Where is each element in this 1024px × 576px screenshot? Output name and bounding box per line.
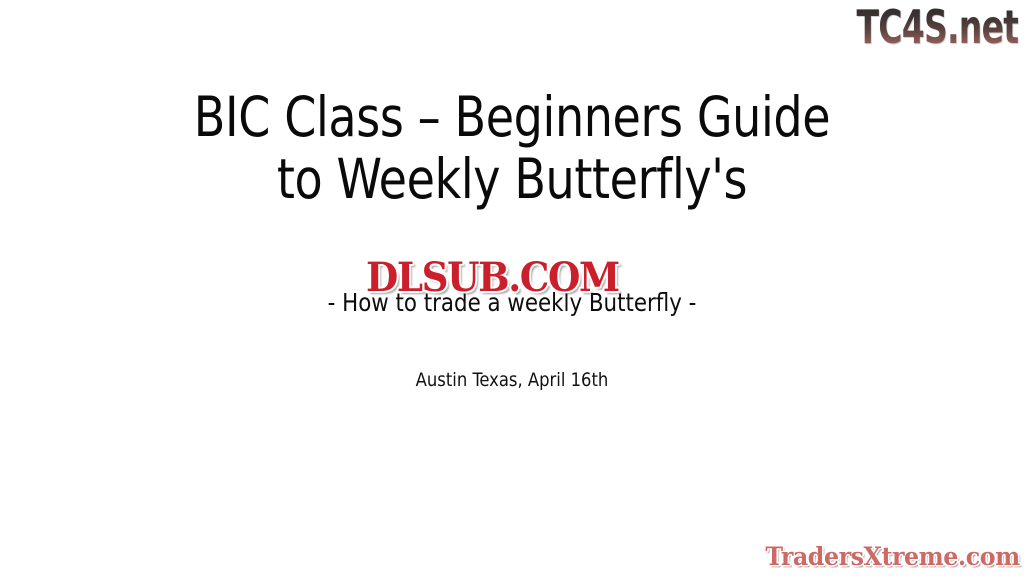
slide-title-line-1: BIC Class – Beginners Guide [36,86,988,148]
slide-title: BIC Class – Beginners Guide to Weekly Bu… [0,86,1024,210]
slide-location-date-text: Austin Texas, April 16th [20,369,1003,391]
slide-location-date: Austin Texas, April 16th [0,369,1024,391]
tc4s-logo-watermark: TC4S.net [856,2,1018,52]
tradersxtreme-com-watermark: TradersXtreme.com [766,542,1020,572]
dlsub-com-watermark: DLSUB.COM [366,256,619,300]
presentation-slide: TC4S.net BIC Class – Beginners Guide to … [0,0,1024,576]
slide-title-line-2: to Weekly Butterfly's [36,148,988,210]
